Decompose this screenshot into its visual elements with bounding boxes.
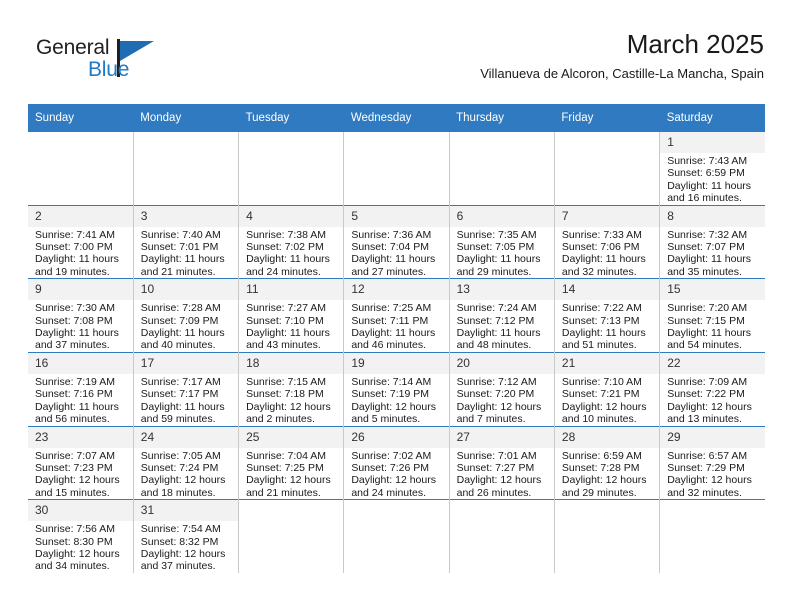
calendar-body: 1Sunrise: 7:43 AMSunset: 6:59 PMDaylight… bbox=[28, 132, 765, 573]
day-sun-info: Sunrise: 7:28 AMSunset: 7:09 PMDaylight:… bbox=[134, 300, 238, 352]
calendar-day-cell[interactable]: 17Sunrise: 7:17 AMSunset: 7:17 PMDayligh… bbox=[133, 352, 238, 426]
calendar-week-row: 2Sunrise: 7:41 AMSunset: 7:00 PMDaylight… bbox=[28, 205, 765, 279]
calendar-day-cell[interactable]: 24Sunrise: 7:05 AMSunset: 7:24 PMDayligh… bbox=[133, 426, 238, 500]
sunset-text: Sunset: 7:05 PM bbox=[457, 241, 550, 253]
calendar-day-cell[interactable]: 22Sunrise: 7:09 AMSunset: 7:22 PMDayligh… bbox=[660, 352, 765, 426]
daylight-text: Daylight: 11 hours and 43 minutes. bbox=[246, 327, 339, 352]
day-sun-info: Sunrise: 7:38 AMSunset: 7:02 PMDaylight:… bbox=[239, 227, 343, 279]
day-number: 1 bbox=[660, 132, 765, 153]
sunset-text: Sunset: 7:13 PM bbox=[562, 315, 655, 327]
calendar-day-cell[interactable]: 31Sunrise: 7:54 AMSunset: 8:32 PMDayligh… bbox=[133, 500, 238, 573]
sunset-text: Sunset: 7:02 PM bbox=[246, 241, 339, 253]
daylight-text: Daylight: 12 hours and 18 minutes. bbox=[141, 474, 234, 499]
sunrise-text: Sunrise: 7:25 AM bbox=[351, 302, 444, 314]
calendar-week-row: 30Sunrise: 7:56 AMSunset: 8:30 PMDayligh… bbox=[28, 500, 765, 573]
day-number: 12 bbox=[344, 279, 448, 300]
day-sun-info: Sunrise: 7:33 AMSunset: 7:06 PMDaylight:… bbox=[555, 227, 659, 279]
sunset-text: Sunset: 7:09 PM bbox=[141, 315, 234, 327]
day-sun-info: Sunrise: 7:12 AMSunset: 7:20 PMDaylight:… bbox=[450, 374, 554, 426]
calendar-day-cell[interactable]: 12Sunrise: 7:25 AMSunset: 7:11 PMDayligh… bbox=[344, 279, 449, 353]
day-sun-info: Sunrise: 7:43 AMSunset: 6:59 PMDaylight:… bbox=[660, 153, 765, 205]
day-number: 4 bbox=[239, 206, 343, 227]
sunset-text: Sunset: 7:10 PM bbox=[246, 315, 339, 327]
daylight-text: Daylight: 11 hours and 24 minutes. bbox=[246, 253, 339, 278]
day-number: 3 bbox=[134, 206, 238, 227]
calendar-day-cell[interactable]: 11Sunrise: 7:27 AMSunset: 7:10 PMDayligh… bbox=[239, 279, 344, 353]
calendar-header-row: Sunday Monday Tuesday Wednesday Thursday… bbox=[28, 104, 765, 132]
calendar-week-row: 9Sunrise: 7:30 AMSunset: 7:08 PMDaylight… bbox=[28, 279, 765, 353]
sunrise-text: Sunrise: 7:14 AM bbox=[351, 376, 444, 388]
weekday-header-sunday: Sunday bbox=[28, 104, 133, 132]
daylight-text: Daylight: 11 hours and 19 minutes. bbox=[35, 253, 129, 278]
calendar-day-cell[interactable]: 4Sunrise: 7:38 AMSunset: 7:02 PMDaylight… bbox=[239, 205, 344, 279]
sunrise-text: Sunrise: 7:54 AM bbox=[141, 523, 234, 535]
calendar-day-cell-empty bbox=[449, 500, 554, 573]
calendar-day-cell-empty bbox=[133, 132, 238, 205]
sunrise-text: Sunrise: 7:28 AM bbox=[141, 302, 234, 314]
calendar-day-cell[interactable]: 3Sunrise: 7:40 AMSunset: 7:01 PMDaylight… bbox=[133, 205, 238, 279]
weekday-header-thursday: Thursday bbox=[449, 104, 554, 132]
calendar-day-cell[interactable]: 6Sunrise: 7:35 AMSunset: 7:05 PMDaylight… bbox=[449, 205, 554, 279]
page-header: General Blue March 2025 Villanueva de Al… bbox=[28, 28, 764, 98]
day-number: 9 bbox=[28, 279, 133, 300]
day-sun-info: Sunrise: 7:10 AMSunset: 7:21 PMDaylight:… bbox=[555, 374, 659, 426]
calendar-day-cell[interactable]: 23Sunrise: 7:07 AMSunset: 7:23 PMDayligh… bbox=[28, 426, 133, 500]
day-number: 19 bbox=[344, 353, 448, 374]
sunrise-text: Sunrise: 7:19 AM bbox=[35, 376, 129, 388]
sunrise-text: Sunrise: 7:40 AM bbox=[141, 229, 234, 241]
day-sun-info: Sunrise: 7:27 AMSunset: 7:10 PMDaylight:… bbox=[239, 300, 343, 352]
sunset-text: Sunset: 7:18 PM bbox=[246, 388, 339, 400]
daylight-text: Daylight: 12 hours and 21 minutes. bbox=[246, 474, 339, 499]
daylight-text: Daylight: 11 hours and 51 minutes. bbox=[562, 327, 655, 352]
calendar-day-cell[interactable]: 30Sunrise: 7:56 AMSunset: 8:30 PMDayligh… bbox=[28, 500, 133, 573]
day-number: 2 bbox=[28, 206, 133, 227]
calendar-day-cell-empty bbox=[28, 132, 133, 205]
sunset-text: Sunset: 7:04 PM bbox=[351, 241, 444, 253]
day-sun-info: Sunrise: 7:36 AMSunset: 7:04 PMDaylight:… bbox=[344, 227, 448, 279]
sunrise-text: Sunrise: 7:35 AM bbox=[457, 229, 550, 241]
calendar-day-cell[interactable]: 5Sunrise: 7:36 AMSunset: 7:04 PMDaylight… bbox=[344, 205, 449, 279]
day-number: 10 bbox=[134, 279, 238, 300]
sunset-text: Sunset: 7:17 PM bbox=[141, 388, 234, 400]
sunrise-text: Sunrise: 7:36 AM bbox=[351, 229, 444, 241]
calendar-day-cell[interactable]: 7Sunrise: 7:33 AMSunset: 7:06 PMDaylight… bbox=[554, 205, 659, 279]
sunrise-text: Sunrise: 7:32 AM bbox=[667, 229, 761, 241]
daylight-text: Daylight: 11 hours and 27 minutes. bbox=[351, 253, 444, 278]
calendar-week-row: 16Sunrise: 7:19 AMSunset: 7:16 PMDayligh… bbox=[28, 352, 765, 426]
day-number: 31 bbox=[134, 500, 238, 521]
calendar-day-cell[interactable]: 2Sunrise: 7:41 AMSunset: 7:00 PMDaylight… bbox=[28, 205, 133, 279]
day-number: 24 bbox=[134, 427, 238, 448]
calendar-day-cell[interactable]: 26Sunrise: 7:02 AMSunset: 7:26 PMDayligh… bbox=[344, 426, 449, 500]
logo-word-general: General bbox=[36, 36, 109, 60]
day-sun-info: Sunrise: 7:14 AMSunset: 7:19 PMDaylight:… bbox=[344, 374, 448, 426]
sunrise-text: Sunrise: 7:02 AM bbox=[351, 450, 444, 462]
daylight-text: Daylight: 11 hours and 46 minutes. bbox=[351, 327, 444, 352]
sunset-text: Sunset: 7:15 PM bbox=[667, 315, 761, 327]
day-number: 21 bbox=[555, 353, 659, 374]
sunset-text: Sunset: 6:59 PM bbox=[667, 167, 761, 179]
sunset-text: Sunset: 7:20 PM bbox=[457, 388, 550, 400]
day-number: 26 bbox=[344, 427, 448, 448]
day-sun-info: Sunrise: 7:24 AMSunset: 7:12 PMDaylight:… bbox=[450, 300, 554, 352]
sunrise-text: Sunrise: 7:24 AM bbox=[457, 302, 550, 314]
day-sun-info: Sunrise: 7:02 AMSunset: 7:26 PMDaylight:… bbox=[344, 448, 448, 500]
calendar-day-cell-empty bbox=[344, 132, 449, 205]
calendar-day-cell[interactable]: 29Sunrise: 6:57 AMSunset: 7:29 PMDayligh… bbox=[660, 426, 765, 500]
daylight-text: Daylight: 11 hours and 29 minutes. bbox=[457, 253, 550, 278]
weekday-header-monday: Monday bbox=[133, 104, 238, 132]
daylight-text: Daylight: 12 hours and 2 minutes. bbox=[246, 401, 339, 426]
daylight-text: Daylight: 12 hours and 13 minutes. bbox=[667, 401, 761, 426]
day-number: 17 bbox=[134, 353, 238, 374]
day-sun-info: Sunrise: 7:15 AMSunset: 7:18 PMDaylight:… bbox=[239, 374, 343, 426]
sunset-text: Sunset: 7:24 PM bbox=[141, 462, 234, 474]
sunset-text: Sunset: 7:19 PM bbox=[351, 388, 444, 400]
calendar-day-cell[interactable]: 27Sunrise: 7:01 AMSunset: 7:27 PMDayligh… bbox=[449, 426, 554, 500]
weekday-header-saturday: Saturday bbox=[660, 104, 765, 132]
day-number: 18 bbox=[239, 353, 343, 374]
calendar-day-cell[interactable]: 18Sunrise: 7:15 AMSunset: 7:18 PMDayligh… bbox=[239, 352, 344, 426]
sunset-text: Sunset: 8:30 PM bbox=[35, 536, 129, 548]
general-blue-logo: General Blue bbox=[36, 36, 216, 92]
daylight-text: Daylight: 11 hours and 35 minutes. bbox=[667, 253, 761, 278]
day-number: 22 bbox=[660, 353, 765, 374]
page-title: March 2025 bbox=[480, 28, 764, 60]
sunset-text: Sunset: 7:08 PM bbox=[35, 315, 129, 327]
calendar-week-row: 1Sunrise: 7:43 AMSunset: 6:59 PMDaylight… bbox=[28, 132, 765, 205]
calendar-day-cell[interactable]: 1Sunrise: 7:43 AMSunset: 6:59 PMDaylight… bbox=[660, 132, 765, 205]
day-number: 16 bbox=[28, 353, 133, 374]
sunset-text: Sunset: 7:27 PM bbox=[457, 462, 550, 474]
calendar-day-cell[interactable]: 16Sunrise: 7:19 AMSunset: 7:16 PMDayligh… bbox=[28, 352, 133, 426]
sunrise-text: Sunrise: 7:22 AM bbox=[562, 302, 655, 314]
daylight-text: Daylight: 12 hours and 26 minutes. bbox=[457, 474, 550, 499]
day-sun-info: Sunrise: 7:07 AMSunset: 7:23 PMDaylight:… bbox=[28, 448, 133, 500]
calendar-page: General Blue March 2025 Villanueva de Al… bbox=[0, 0, 792, 612]
day-sun-info: Sunrise: 7:40 AMSunset: 7:01 PMDaylight:… bbox=[134, 227, 238, 279]
sunset-text: Sunset: 7:00 PM bbox=[35, 241, 129, 253]
day-number: 8 bbox=[660, 206, 765, 227]
sunset-text: Sunset: 7:28 PM bbox=[562, 462, 655, 474]
calendar-day-cell-empty bbox=[554, 500, 659, 573]
daylight-text: Daylight: 11 hours and 32 minutes. bbox=[562, 253, 655, 278]
day-sun-info: Sunrise: 7:41 AMSunset: 7:00 PMDaylight:… bbox=[28, 227, 133, 279]
sunset-text: Sunset: 8:32 PM bbox=[141, 536, 234, 548]
sunset-text: Sunset: 7:26 PM bbox=[351, 462, 444, 474]
day-number: 23 bbox=[28, 427, 133, 448]
sunrise-text: Sunrise: 7:43 AM bbox=[667, 155, 761, 167]
weekday-header-friday: Friday bbox=[554, 104, 659, 132]
calendar-day-cell-empty bbox=[554, 132, 659, 205]
calendar-day-cell[interactable]: 19Sunrise: 7:14 AMSunset: 7:19 PMDayligh… bbox=[344, 352, 449, 426]
day-number: 6 bbox=[450, 206, 554, 227]
daylight-text: Daylight: 12 hours and 37 minutes. bbox=[141, 548, 234, 573]
day-sun-info: Sunrise: 6:59 AMSunset: 7:28 PMDaylight:… bbox=[555, 448, 659, 500]
day-number: 5 bbox=[344, 206, 448, 227]
daylight-text: Daylight: 12 hours and 24 minutes. bbox=[351, 474, 444, 499]
day-sun-info: Sunrise: 7:19 AMSunset: 7:16 PMDaylight:… bbox=[28, 374, 133, 426]
daylight-text: Daylight: 12 hours and 34 minutes. bbox=[35, 548, 129, 573]
day-sun-info: Sunrise: 7:17 AMSunset: 7:17 PMDaylight:… bbox=[134, 374, 238, 426]
sunrise-text: Sunrise: 7:10 AM bbox=[562, 376, 655, 388]
daylight-text: Daylight: 12 hours and 15 minutes. bbox=[35, 474, 129, 499]
day-number: 29 bbox=[660, 427, 765, 448]
day-number: 28 bbox=[555, 427, 659, 448]
sunrise-text: Sunrise: 6:59 AM bbox=[562, 450, 655, 462]
day-sun-info: Sunrise: 7:09 AMSunset: 7:22 PMDaylight:… bbox=[660, 374, 765, 426]
sunset-text: Sunset: 7:06 PM bbox=[562, 241, 655, 253]
calendar-day-cell[interactable]: 25Sunrise: 7:04 AMSunset: 7:25 PMDayligh… bbox=[239, 426, 344, 500]
calendar-day-cell-empty bbox=[660, 500, 765, 573]
day-sun-info: Sunrise: 7:25 AMSunset: 7:11 PMDaylight:… bbox=[344, 300, 448, 352]
daylight-text: Daylight: 12 hours and 10 minutes. bbox=[562, 401, 655, 426]
sunrise-text: Sunrise: 7:09 AM bbox=[667, 376, 761, 388]
daylight-text: Daylight: 11 hours and 56 minutes. bbox=[35, 401, 129, 426]
calendar-day-cell[interactable]: 21Sunrise: 7:10 AMSunset: 7:21 PMDayligh… bbox=[554, 352, 659, 426]
sunset-text: Sunset: 7:23 PM bbox=[35, 462, 129, 474]
day-sun-info: Sunrise: 6:57 AMSunset: 7:29 PMDaylight:… bbox=[660, 448, 765, 500]
sunrise-text: Sunrise: 7:07 AM bbox=[35, 450, 129, 462]
calendar-day-cell-empty bbox=[344, 500, 449, 573]
day-sun-info: Sunrise: 7:30 AMSunset: 7:08 PMDaylight:… bbox=[28, 300, 133, 352]
calendar-day-cell[interactable]: 13Sunrise: 7:24 AMSunset: 7:12 PMDayligh… bbox=[449, 279, 554, 353]
sunrise-text: Sunrise: 7:38 AM bbox=[246, 229, 339, 241]
day-number: 15 bbox=[660, 279, 765, 300]
sunset-text: Sunset: 7:01 PM bbox=[141, 241, 234, 253]
daylight-text: Daylight: 11 hours and 37 minutes. bbox=[35, 327, 129, 352]
day-sun-info: Sunrise: 7:04 AMSunset: 7:25 PMDaylight:… bbox=[239, 448, 343, 500]
sunrise-sunset-calendar: Sunday Monday Tuesday Wednesday Thursday… bbox=[28, 104, 765, 573]
sunset-text: Sunset: 7:11 PM bbox=[351, 315, 444, 327]
sunrise-text: Sunrise: 7:27 AM bbox=[246, 302, 339, 314]
sunrise-text: Sunrise: 7:56 AM bbox=[35, 523, 129, 535]
weekday-header-wednesday: Wednesday bbox=[344, 104, 449, 132]
day-number: 7 bbox=[555, 206, 659, 227]
day-sun-info: Sunrise: 7:35 AMSunset: 7:05 PMDaylight:… bbox=[450, 227, 554, 279]
logo-word-blue: Blue bbox=[88, 58, 129, 82]
day-sun-info: Sunrise: 7:20 AMSunset: 7:15 PMDaylight:… bbox=[660, 300, 765, 352]
sunset-text: Sunset: 7:07 PM bbox=[667, 241, 761, 253]
day-sun-info: Sunrise: 7:56 AMSunset: 8:30 PMDaylight:… bbox=[28, 521, 133, 573]
day-number: 11 bbox=[239, 279, 343, 300]
sunset-text: Sunset: 7:29 PM bbox=[667, 462, 761, 474]
sunrise-text: Sunrise: 7:04 AM bbox=[246, 450, 339, 462]
sunrise-text: Sunrise: 7:05 AM bbox=[141, 450, 234, 462]
daylight-text: Daylight: 11 hours and 54 minutes. bbox=[667, 327, 761, 352]
day-sun-info: Sunrise: 7:32 AMSunset: 7:07 PMDaylight:… bbox=[660, 227, 765, 279]
daylight-text: Daylight: 11 hours and 59 minutes. bbox=[141, 401, 234, 426]
calendar-day-cell[interactable]: 10Sunrise: 7:28 AMSunset: 7:09 PMDayligh… bbox=[133, 279, 238, 353]
day-number: 20 bbox=[450, 353, 554, 374]
calendar-day-cell-empty bbox=[449, 132, 554, 205]
sunrise-text: Sunrise: 7:12 AM bbox=[457, 376, 550, 388]
sunrise-text: Sunrise: 7:17 AM bbox=[141, 376, 234, 388]
calendar-day-cell-empty bbox=[239, 500, 344, 573]
calendar-day-cell[interactable]: 9Sunrise: 7:30 AMSunset: 7:08 PMDaylight… bbox=[28, 279, 133, 353]
daylight-text: Daylight: 12 hours and 7 minutes. bbox=[457, 401, 550, 426]
calendar-day-cell[interactable]: 8Sunrise: 7:32 AMSunset: 7:07 PMDaylight… bbox=[660, 205, 765, 279]
day-sun-info: Sunrise: 7:54 AMSunset: 8:32 PMDaylight:… bbox=[134, 521, 238, 573]
calendar-week-row: 23Sunrise: 7:07 AMSunset: 7:23 PMDayligh… bbox=[28, 426, 765, 500]
day-number: 27 bbox=[450, 427, 554, 448]
daylight-text: Daylight: 12 hours and 5 minutes. bbox=[351, 401, 444, 426]
calendar-day-cell[interactable]: 20Sunrise: 7:12 AMSunset: 7:20 PMDayligh… bbox=[449, 352, 554, 426]
sunrise-text: Sunrise: 7:01 AM bbox=[457, 450, 550, 462]
sunrise-text: Sunrise: 7:15 AM bbox=[246, 376, 339, 388]
sunset-text: Sunset: 7:21 PM bbox=[562, 388, 655, 400]
daylight-text: Daylight: 11 hours and 48 minutes. bbox=[457, 327, 550, 352]
calendar-day-cell-empty bbox=[239, 132, 344, 205]
location-subtitle: Villanueva de Alcoron, Castille-La Manch… bbox=[480, 64, 764, 84]
calendar-day-cell[interactable]: 14Sunrise: 7:22 AMSunset: 7:13 PMDayligh… bbox=[554, 279, 659, 353]
daylight-text: Daylight: 11 hours and 40 minutes. bbox=[141, 327, 234, 352]
day-number: 14 bbox=[555, 279, 659, 300]
sunrise-text: Sunrise: 7:33 AM bbox=[562, 229, 655, 241]
sunset-text: Sunset: 7:16 PM bbox=[35, 388, 129, 400]
title-block: March 2025 Villanueva de Alcoron, Castil… bbox=[480, 28, 764, 84]
day-sun-info: Sunrise: 7:05 AMSunset: 7:24 PMDaylight:… bbox=[134, 448, 238, 500]
day-sun-info: Sunrise: 7:01 AMSunset: 7:27 PMDaylight:… bbox=[450, 448, 554, 500]
daylight-text: Daylight: 12 hours and 29 minutes. bbox=[562, 474, 655, 499]
daylight-text: Daylight: 11 hours and 16 minutes. bbox=[667, 180, 761, 205]
sunset-text: Sunset: 7:25 PM bbox=[246, 462, 339, 474]
day-number: 30 bbox=[28, 500, 133, 521]
daylight-text: Daylight: 11 hours and 21 minutes. bbox=[141, 253, 234, 278]
sunset-text: Sunset: 7:12 PM bbox=[457, 315, 550, 327]
sunset-text: Sunset: 7:22 PM bbox=[667, 388, 761, 400]
daylight-text: Daylight: 12 hours and 32 minutes. bbox=[667, 474, 761, 499]
calendar-day-cell[interactable]: 28Sunrise: 6:59 AMSunset: 7:28 PMDayligh… bbox=[554, 426, 659, 500]
sunrise-text: Sunrise: 7:30 AM bbox=[35, 302, 129, 314]
sunrise-text: Sunrise: 7:41 AM bbox=[35, 229, 129, 241]
calendar-day-cell[interactable]: 15Sunrise: 7:20 AMSunset: 7:15 PMDayligh… bbox=[660, 279, 765, 353]
sunrise-text: Sunrise: 7:20 AM bbox=[667, 302, 761, 314]
day-number: 25 bbox=[239, 427, 343, 448]
weekday-header-tuesday: Tuesday bbox=[239, 104, 344, 132]
day-sun-info: Sunrise: 7:22 AMSunset: 7:13 PMDaylight:… bbox=[555, 300, 659, 352]
sunrise-text: Sunrise: 6:57 AM bbox=[667, 450, 761, 462]
day-number: 13 bbox=[450, 279, 554, 300]
